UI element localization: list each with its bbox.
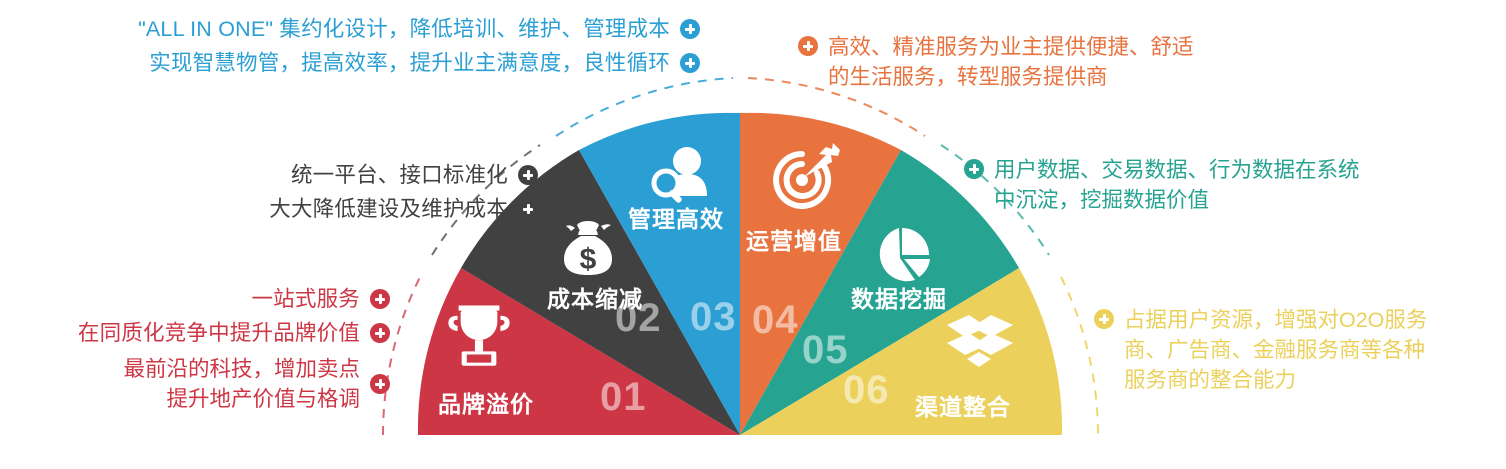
callout-orange: 高效、精准服务为业主提供便捷、舒适 的生活服务，转型服务提供商 [798,32,1194,92]
callout-red-text-2b: 提升地产价值与格调 [123,384,360,414]
callout-yellow-item-0[interactable]: 占据用户资源，增强对O2O服务 商、广告商、金融服务商等各种 服务商的整合能力 [1094,305,1427,395]
callout-yellow-text-0b: 商、广告商、金融服务商等各种 [1124,335,1427,365]
callout-red-text-1: 在同质化竞争中提升品牌价值 [78,318,360,348]
segment-05-label: 数据挖掘 [851,280,947,314]
segment-04-number: 04 [752,298,799,343]
callout-red-text-2a: 最前沿的科技，增加卖点 [123,354,360,384]
arc-yellow [1061,277,1098,435]
callout-dark: 统一平台、接口标准化 大大降低建设及维护成本 [0,156,538,228]
plus-icon[interactable] [964,159,984,179]
plus-icon[interactable] [370,289,390,309]
segment-02-number: 02 [615,296,662,341]
segment-06-label: 渠道整合 [915,388,1011,422]
callout-blue-text-1: 实现智慧物管，提高效率，提升业主满意度，良性循环 [149,48,670,78]
callout-teal: 用户数据、交易数据、行为数据在系统 中沉淀，挖掘数据价值 [964,155,1360,215]
callout-dark-item-0[interactable]: 统一平台、接口标准化 [0,160,538,190]
callout-red-text-0: 一站式服务 [251,284,360,314]
callout-teal-item-0[interactable]: 用户数据、交易数据、行为数据在系统 中沉淀，挖掘数据价值 [964,155,1360,215]
callout-teal-text-0b: 中沉淀，挖掘数据价值 [994,185,1360,215]
callout-red-item-1[interactable]: 在同质化竞争中提升品牌价值 [0,318,390,348]
segment-04-label: 运营增值 [746,222,842,256]
segment-01-label: 品牌溢价 [438,385,534,419]
callout-blue-item-0[interactable]: "ALL IN ONE" 集约化设计，降低培训、维护、管理成本 [0,14,700,44]
segment-01-number: 01 [600,375,647,420]
callout-blue-text-0: "ALL IN ONE" 集约化设计，降低培训、维护、管理成本 [138,14,670,44]
segment-03-number: 03 [690,295,737,340]
callout-yellow-text-0a: 占据用户资源，增强对O2O服务 [1124,305,1427,335]
infographic-canvas: $ [0,0,1506,469]
callout-yellow: 占据用户资源，增强对O2O服务 商、广告商、金融服务商等各种 服务商的整合能力 [1094,305,1427,395]
callout-yellow-text-0c: 服务商的整合能力 [1124,365,1427,395]
callout-red: 一站式服务 在同质化竞争中提升品牌价值 最前沿的科技，增加卖点 提升地产价值与格… [0,280,390,414]
svg-text:$: $ [580,243,597,276]
callout-red-item-0[interactable]: 一站式服务 [0,284,390,314]
segment-05-number: 05 [802,328,849,373]
segment-06-number: 06 [843,368,890,413]
plus-icon[interactable] [680,53,700,73]
callout-dark-text-0: 统一平台、接口标准化 [291,160,508,190]
plus-icon[interactable] [518,165,538,185]
plus-icon[interactable] [370,323,390,343]
callout-blue: "ALL IN ONE" 集约化设计，降低培训、维护、管理成本 实现智慧物管，提… [0,10,700,82]
segment-03-label: 管理高效 [628,200,724,234]
callout-teal-text-0a: 用户数据、交易数据、行为数据在系统 [994,155,1360,185]
callout-dark-text-1: 大大降低建设及维护成本 [269,194,508,224]
callout-dark-item-1[interactable]: 大大降低建设及维护成本 [0,194,538,224]
callout-orange-text-0a: 高效、精准服务为业主提供便捷、舒适 [828,32,1194,62]
callout-blue-item-1[interactable]: 实现智慧物管，提高效率，提升业主满意度，良性循环 [0,48,700,78]
callout-red-item-2[interactable]: 最前沿的科技，增加卖点 提升地产价值与格调 [0,354,390,414]
plus-icon[interactable] [518,199,538,219]
plus-icon[interactable] [1094,309,1114,329]
plus-icon[interactable] [680,19,700,39]
plus-icon[interactable] [370,374,390,394]
plus-icon[interactable] [798,36,818,56]
callout-orange-text-0b: 的生活服务，转型服务提供商 [828,62,1194,92]
callout-orange-item-0[interactable]: 高效、精准服务为业主提供便捷、舒适 的生活服务，转型服务提供商 [798,32,1194,92]
